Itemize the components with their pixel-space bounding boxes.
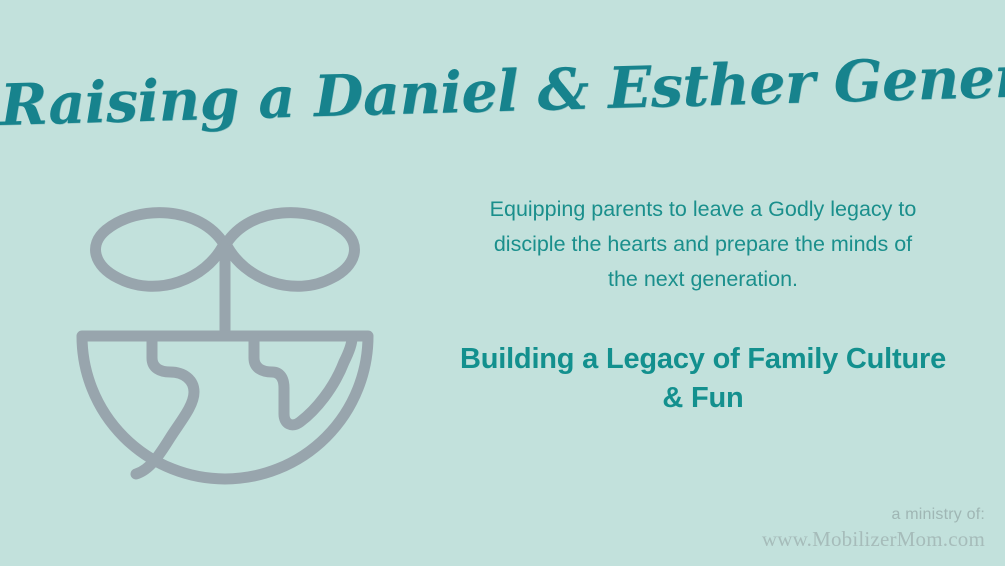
tagline-line-1: Equipping parents to leave a Godly legac… [418,192,988,227]
leaf-left-shape [96,213,224,287]
leaf-right-shape [226,213,354,287]
headline-line-1: Building a Legacy of Family Culture [408,340,998,379]
sprout-globe-icon [60,182,390,492]
tagline-line-3: the next generation. [418,262,988,297]
ministry-of-label: a ministry of: [762,504,985,526]
footer-attribution: a ministry of: www.MobilizerMom.com [762,504,985,552]
website-url[interactable]: www.MobilizerMom.com [762,526,985,552]
sprout-globe-logo [60,182,390,492]
tagline-block: Equipping parents to leave a Godly legac… [418,192,988,296]
continent-right-shape [254,338,352,425]
promo-slide: Raising a Daniel & Esther Generation Equ… [0,0,1005,566]
headline-block: Building a Legacy of Family Culture & Fu… [408,340,998,418]
headline-line-2: & Fun [408,379,998,418]
hemisphere-shape [82,336,368,479]
tagline-line-2: disciple the hearts and prepare the mind… [418,227,988,262]
page-title: Raising a Daniel & Esther Generation [0,48,1005,136]
